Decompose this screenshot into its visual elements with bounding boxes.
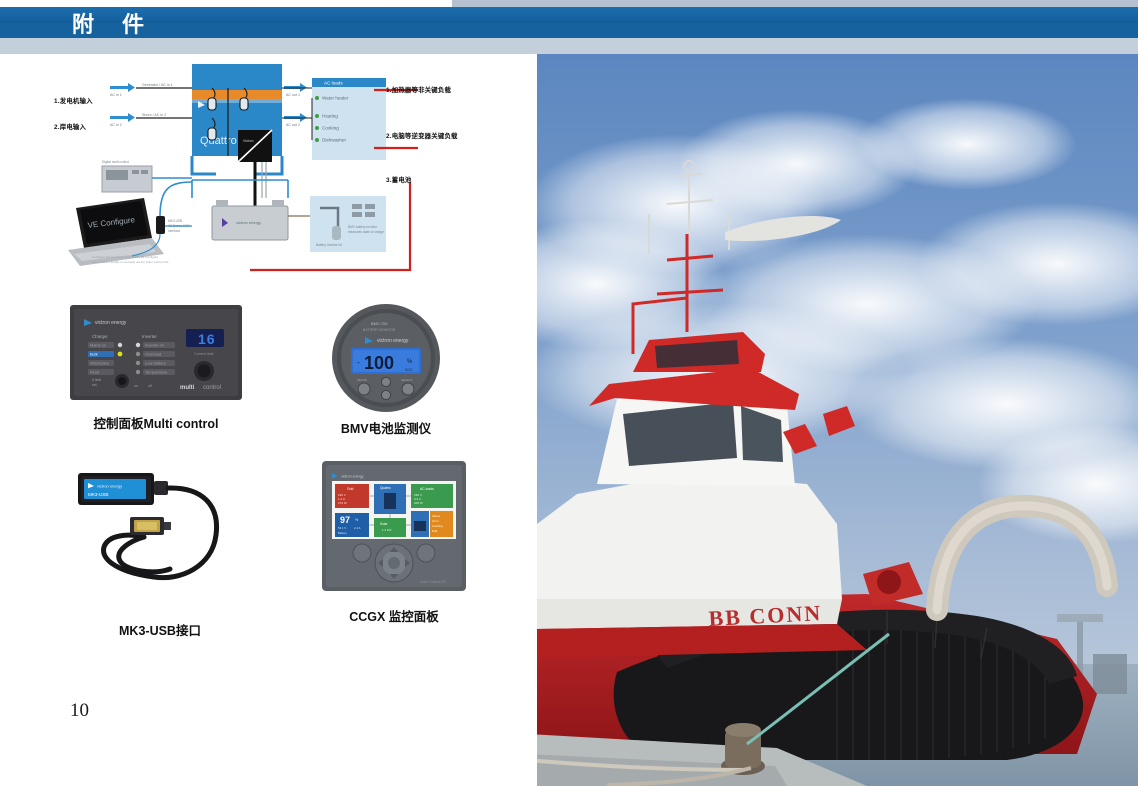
callout-noncritical-loads: 1.加热器等非关键负载: [386, 85, 451, 94]
svg-text:AC loads: AC loads: [324, 81, 343, 86]
svg-text:measures state of charge: measures state of charge: [348, 230, 384, 234]
svg-text:on: on: [134, 384, 138, 388]
svg-text:SELECT: SELECT: [401, 378, 413, 382]
svg-text:Water heater: Water heater: [322, 96, 349, 101]
svg-text:victron energy: victron energy: [341, 475, 364, 479]
tugboat-photo: BB CONN: [537, 54, 1138, 786]
multi-control-image: victron energy Charger Mains on Bulk Abs…: [70, 305, 242, 400]
product-mk3-usb: victron energy MK3-USB MK3-USB接口: [70, 465, 250, 665]
svg-text:AC in 2: AC in 2: [110, 123, 122, 127]
svg-text:BMV battery monitor: BMV battery monitor: [348, 225, 378, 229]
svg-text:control: control: [203, 385, 221, 391]
svg-text:interface: interface: [168, 229, 180, 233]
svg-text:SOC: SOC: [405, 368, 413, 372]
svg-text:276 W: 276 W: [338, 501, 347, 505]
bmv-monitor-image: BMV-700 BATTERY MONITOR victron energy 1…: [331, 303, 441, 413]
svg-text:MK3-USB: MK3-USB: [168, 219, 182, 223]
svg-text:victron energy: victron energy: [97, 484, 122, 489]
svg-text:Inverter: Inverter: [142, 334, 157, 339]
svg-text:Dishwasher: Dishwasher: [322, 138, 346, 143]
product-ccgx-panel: victron energy Grid 230 V1.2 A276 W Quat…: [322, 461, 466, 621]
svg-text:Solar: Solar: [380, 522, 388, 526]
callout-shore-input: 2.岸电输入: [54, 122, 86, 131]
svg-text:Status: Status: [432, 514, 441, 518]
header-under-strip: [0, 38, 1138, 54]
svg-text:97: 97: [340, 515, 350, 525]
svg-text:Bulk: Bulk: [432, 529, 438, 533]
title-bar-sheen: [0, 7, 1138, 23]
svg-text:53.1 V: 53.1 V: [338, 526, 346, 530]
svg-text:Inverting: Inverting: [432, 524, 443, 528]
svg-text:Temperature: Temperature: [145, 370, 168, 375]
product-multi-control: victron energy Charger Mains on Bulk Abs…: [70, 305, 242, 433]
svg-text:208 W: 208 W: [414, 501, 423, 505]
svg-text:Battery: Battery: [338, 531, 347, 535]
svg-text:Grid: Grid: [347, 487, 354, 491]
svg-text:-: -: [357, 358, 360, 367]
svg-text:Quattro: Quattro: [380, 486, 391, 490]
callout-battery: 3.蓄电池: [386, 175, 412, 184]
svg-text:BATTERY MONITOR: BATTERY MONITOR: [363, 328, 396, 332]
svg-text:Configure the complete system: Configure the complete system with VE Co…: [92, 255, 159, 259]
page-title: 附 件: [72, 7, 147, 39]
svg-text:and monitor it locally or remo: and monitor it locally or remotely via t…: [92, 260, 169, 264]
ccgx-panel-image: victron energy Grid 230 V1.2 A276 W Quat…: [322, 461, 466, 591]
svg-text:AC in: AC in: [432, 519, 439, 523]
svg-text:SETUP: SETUP: [357, 378, 367, 382]
svg-text:%: %: [407, 359, 413, 365]
svg-text:Quattro: Quattro: [200, 135, 237, 147]
svg-text:victron energy: victron energy: [95, 320, 127, 326]
svg-text:Charger: Charger: [92, 334, 108, 339]
svg-text:Inverter on: Inverter on: [145, 343, 164, 348]
svg-text:Low battery: Low battery: [145, 361, 166, 366]
title-bar: 附 件: [0, 7, 1138, 38]
product-caption-ccgx: CCGX 监控面板: [322, 606, 466, 625]
svg-text:Overload: Overload: [145, 352, 161, 357]
svg-text:AC loads: AC loads: [420, 487, 434, 491]
svg-text:Bulk: Bulk: [90, 352, 98, 357]
svg-text:Color Control GX: Color Control GX: [420, 580, 447, 584]
product-caption-bmv: BMV电池监测仪: [322, 418, 450, 437]
svg-text:multi: multi: [180, 385, 195, 391]
svg-text:set: set: [92, 383, 97, 387]
svg-text:Absorption: Absorption: [90, 361, 109, 366]
svg-text:Digital multi control: Digital multi control: [102, 160, 129, 164]
callout-inverter-critical-loads: 2.电脑等逆变器关键负载: [386, 131, 458, 140]
svg-text:A limit: A limit: [92, 378, 101, 382]
page-number: 10: [70, 700, 89, 722]
svg-text:100: 100: [364, 353, 394, 373]
svg-text:Mains on: Mains on: [90, 343, 106, 348]
svg-text:Current limit: Current limit: [194, 352, 213, 356]
svg-text:Victron: Victron: [243, 139, 254, 143]
mk3-usb-image: victron energy MK3-USB: [70, 465, 250, 600]
svg-text:AC out 2: AC out 2: [286, 123, 300, 127]
svg-text:Generator / AC in 1: Generator / AC in 1: [142, 83, 173, 87]
svg-text:MK3-USB: MK3-USB: [88, 492, 108, 497]
svg-text:Heating: Heating: [322, 114, 338, 119]
svg-text:1.2 kW: 1.2 kW: [382, 528, 392, 532]
svg-text:2.4 A: 2.4 A: [354, 526, 361, 530]
top-strip-right: [452, 0, 1138, 7]
page-root: 附 件: [0, 0, 1138, 786]
svg-text:BMV-700: BMV-700: [371, 321, 388, 326]
product-caption-mk3: MK3-USB接口: [70, 620, 250, 639]
svg-text:Battery monitor kit: Battery monitor kit: [316, 243, 342, 247]
svg-text:victron energy: victron energy: [377, 338, 409, 344]
svg-text:AC out 1: AC out 1: [286, 93, 300, 97]
svg-text:Cooking: Cooking: [322, 126, 339, 131]
callout-generator-input: 1.发电机输入: [54, 96, 93, 105]
svg-text:16: 16: [198, 331, 216, 347]
svg-text:Float: Float: [90, 370, 100, 375]
product-bmv-monitor: BMV-700 BATTERY MONITOR victron energy 1…: [331, 303, 459, 435]
svg-text:off: off: [148, 384, 152, 388]
svg-text:AC in 1: AC in 1: [110, 93, 122, 97]
svg-text:Shore / AC in 2: Shore / AC in 2: [142, 113, 166, 117]
svg-text:victron energy: victron energy: [236, 220, 261, 225]
product-caption-multi-control: 控制面板Multi control: [70, 413, 242, 432]
